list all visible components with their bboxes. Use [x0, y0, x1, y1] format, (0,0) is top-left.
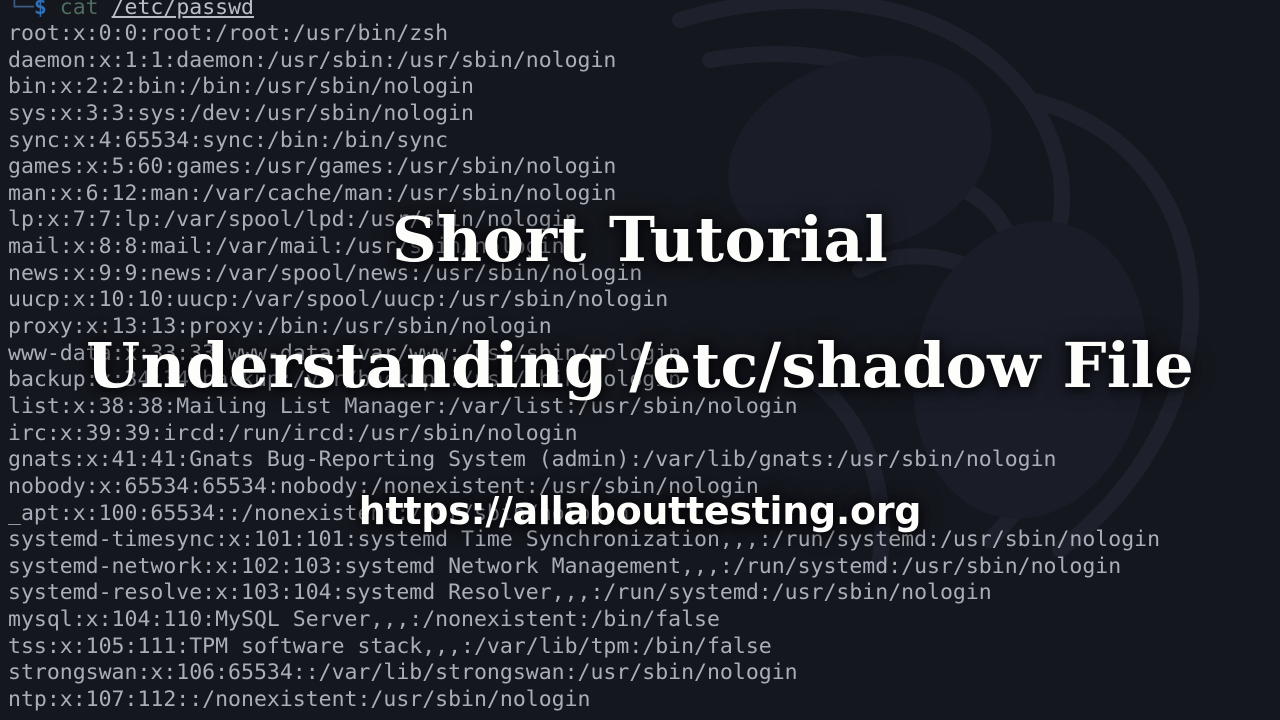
terminal-screenshot: └─$ cat /etc/passwd root:x:0:0:root:/roo… [0, 0, 1280, 720]
passwd-line: strongswan:x:106:65534::/var/lib/strongs… [8, 660, 1160, 687]
shell-prompt-line: └─$ cat /etc/passwd [8, 0, 254, 22]
passwd-line: mail:x:8:8:mail:/var/mail:/usr/sbin/nolo… [8, 234, 1160, 261]
passwd-line: news:x:9:9:news:/var/spool/news:/usr/sbi… [8, 261, 1160, 288]
passwd-line: systemd-network:x:102:103:systemd Networ… [8, 554, 1160, 581]
passwd-line: lp:x:7:7:lp:/var/spool/lpd:/usr/sbin/nol… [8, 207, 1160, 234]
passwd-line: bin:x:2:2:bin:/bin:/usr/sbin/nologin [8, 74, 1160, 101]
passwd-line: systemd-resolve:x:103:104:systemd Resolv… [8, 580, 1160, 607]
prompt-command: cat [60, 0, 99, 20]
passwd-line: mysql:x:104:110:MySQL Server,,,:/nonexis… [8, 607, 1160, 634]
passwd-line: systemd-timesync:x:101:101:systemd Time … [8, 527, 1160, 554]
prompt-argument: /etc/passwd [112, 0, 254, 20]
passwd-file-lines: root:x:0:0:root:/root:/usr/bin/zshdaemon… [8, 21, 1160, 714]
passwd-line: uucp:x:10:10:uucp:/var/spool/uucp:/usr/s… [8, 287, 1160, 314]
passwd-line: www-data:x:33:33:www-data:/var/www:/usr/… [8, 341, 1160, 368]
prompt-dollar-icon: $ [34, 0, 47, 20]
passwd-line: backup:x:34:34:backup:/var/backups:/usr/… [8, 367, 1160, 394]
passwd-line: irc:x:39:39:ircd:/run/ircd:/usr/sbin/nol… [8, 421, 1160, 448]
passwd-line: man:x:6:12:man:/var/cache/man:/usr/sbin/… [8, 181, 1160, 208]
passwd-line: proxy:x:13:13:proxy:/bin:/usr/sbin/nolog… [8, 314, 1160, 341]
prompt-space [47, 0, 60, 20]
passwd-line: gnats:x:41:41:Gnats Bug-Reporting System… [8, 447, 1160, 474]
passwd-line: games:x:5:60:games:/usr/games:/usr/sbin/… [8, 154, 1160, 181]
passwd-line: daemon:x:1:1:daemon:/usr/sbin:/usr/sbin/… [8, 48, 1160, 75]
passwd-line: tss:x:105:111:TPM software stack,,,:/var… [8, 634, 1160, 661]
passwd-line: nobody:x:65534:65534:nobody:/nonexistent… [8, 474, 1160, 501]
passwd-line: list:x:38:38:Mailing List Manager:/var/l… [8, 394, 1160, 421]
terminal-output: └─$ cat /etc/passwd root:x:0:0:root:/roo… [0, 0, 1280, 720]
prompt-bracket-icon: └─ [8, 0, 34, 20]
passwd-line: sys:x:3:3:sys:/dev:/usr/sbin/nologin [8, 101, 1160, 128]
passwd-line: _apt:x:100:65534::/nonexistent:/usr/sbin… [8, 501, 1160, 528]
passwd-line: sync:x:4:65534:sync:/bin:/bin/sync [8, 128, 1160, 155]
passwd-line: ntp:x:107:112::/nonexistent:/usr/sbin/no… [8, 687, 1160, 714]
passwd-line: root:x:0:0:root:/root:/usr/bin/zsh [8, 21, 1160, 48]
prompt-space-2 [99, 0, 112, 20]
